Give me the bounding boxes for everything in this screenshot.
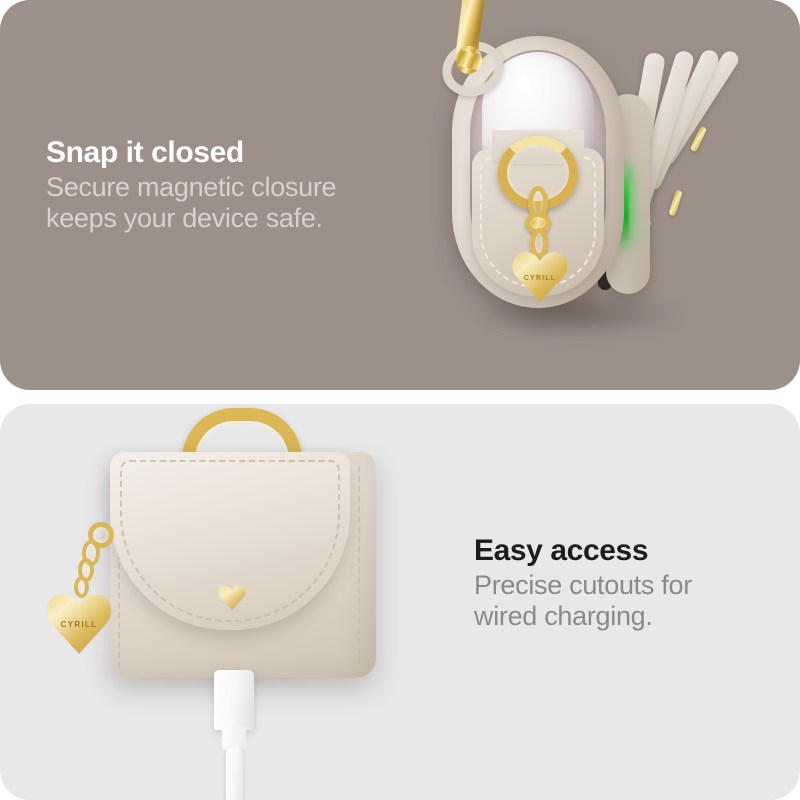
case-right-stitching bbox=[358, 466, 360, 664]
subline-easy-access-line-2: wired charging. bbox=[474, 601, 794, 633]
charging-plug-icon bbox=[214, 670, 254, 730]
headline-snap-it-closed: Snap it closed bbox=[46, 136, 446, 170]
gold-accent-bar-icon bbox=[668, 190, 682, 217]
copy-block-snap-it-closed: Snap it closed Secure magnetic closure k… bbox=[46, 136, 446, 235]
heart-snap-button-icon bbox=[218, 584, 246, 610]
heart-charm-icon: CYRILL bbox=[512, 248, 568, 302]
charging-cable-icon bbox=[226, 746, 243, 800]
subline-easy-access-line-1: Precise cutouts for bbox=[474, 570, 794, 602]
heart-shape bbox=[218, 584, 246, 610]
product-image-closed-case: CYRILL bbox=[10, 404, 430, 800]
charm-brand-text: CYRILL bbox=[46, 620, 112, 629]
subline-snap-it-closed-line-1: Secure magnetic closure bbox=[46, 172, 446, 204]
panel-snap-it-closed: CYRILL Snap it closed Secure magnetic cl… bbox=[0, 0, 800, 390]
headline-easy-access: Easy access bbox=[474, 534, 794, 568]
copy-block-easy-access: Easy access Precise cutouts for wired ch… bbox=[474, 534, 794, 633]
subline-snap-it-closed-line-2: keeps your device safe. bbox=[46, 203, 446, 235]
product-image-open-case: CYRILL bbox=[420, 0, 800, 390]
charm-brand-text: CYRILL bbox=[512, 275, 568, 282]
product-feature-graphic: CYRILL Snap it closed Secure magnetic cl… bbox=[0, 0, 800, 800]
heart-charm-icon: CYRILL bbox=[46, 590, 112, 654]
